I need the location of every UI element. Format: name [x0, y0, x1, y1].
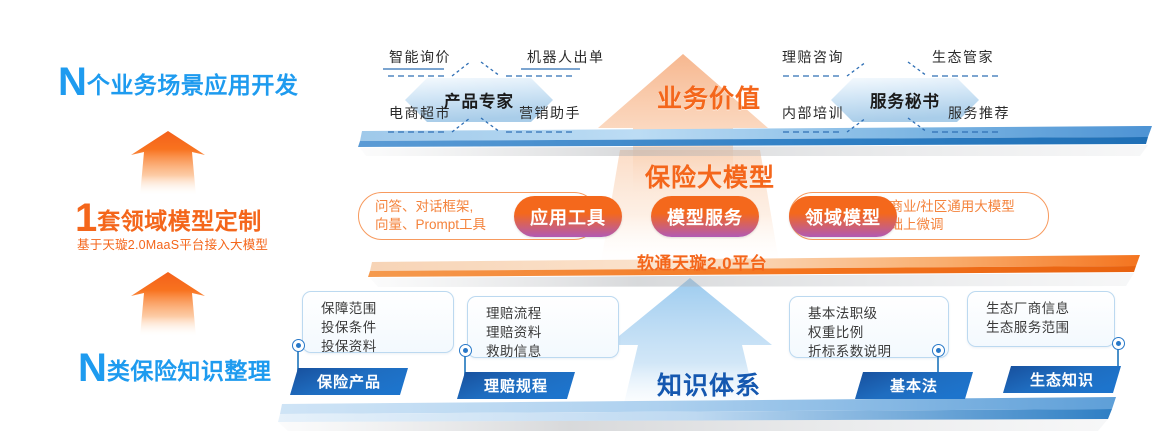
satellite-product-expert-top-left[interactable]: 智能询价 [389, 47, 451, 67]
kb-card-eco-knowledge: 生态厂商信息 生态服务范围 [967, 291, 1115, 347]
scenario-band-shadow [360, 145, 1148, 156]
left-label-domain-model: 1套领域模型定制 [75, 198, 262, 238]
kb-card-basic-law-lines: 基本法职级 权重比例 折标系数说明 [790, 297, 948, 368]
hexagon-product-expert-text: 产品专家 [444, 88, 514, 112]
satellite-service-secretary-bottom-right[interactable]: 服务推荐 [948, 103, 1010, 123]
kb-tag-basic-law[interactable]: 基本法 [855, 372, 973, 399]
platform-left-note-text: 问答、对话框架, 向量、Prompt工具 [359, 198, 486, 234]
heading-insurance-large-model: 保险大模型 [645, 158, 775, 194]
satellite-service-secretary-top-left[interactable]: 理赔咨询 [782, 47, 844, 67]
left-label-knowledge-prefix: N [78, 346, 107, 390]
kb-dot-basic-law[interactable] [932, 344, 945, 357]
left-label-domain-model-text: 套领域模型定制 [97, 208, 262, 234]
kb-card-basic-law: 基本法职级 权重比例 折标系数说明 [789, 296, 949, 358]
satellite-product-expert-bottom-left[interactable]: 电商超市 [389, 103, 451, 123]
left-label-domain-model-subtitle: 基于天璇2.0MaaS平台接入大模型 [77, 234, 268, 253]
kb-dot-claim-rules[interactable] [459, 344, 472, 357]
kb-card-claim-rules-lines: 理赔流程 理赔资料 救助信息 [468, 297, 618, 368]
pill-model-service[interactable]: 模型服务 [651, 196, 759, 237]
kb-card-insurance-product: 保障范围 投保条件 投保资料 [302, 291, 454, 353]
kb-dot-eco-knowledge[interactable] [1112, 337, 1125, 350]
kb-card-claim-rules: 理赔流程 理赔资料 救助信息 [467, 296, 619, 358]
left-label-scenarios-text: 个业务场景应用开发 [87, 72, 299, 98]
kb-tag-eco-knowledge[interactable]: 生态知识 [1003, 366, 1121, 393]
kb-tag-insurance-product[interactable]: 保险产品 [290, 368, 408, 395]
left-label-knowledge: N类保险知识整理 [78, 348, 271, 388]
kb-card-insurance-product-lines: 保障范围 投保条件 投保资料 [303, 292, 453, 363]
diagram-canvas: N个业务场景应用开发 1套领域模型定制 基于天璇2.0MaaS平台接入大模型 N… [0, 0, 1165, 432]
satellite-product-expert-top-right[interactable]: 机器人出单 [527, 47, 605, 67]
kb-tag-claim-rules-label: 理赔规程 [484, 375, 548, 396]
satellite-product-expert-bottom-right[interactable]: 营销助手 [519, 103, 581, 123]
up-arrow-icon-1 [131, 131, 205, 196]
kb-dot-insurance-product[interactable] [292, 339, 305, 352]
satellite-service-secretary-bottom-left[interactable]: 内部培训 [782, 103, 844, 123]
pill-model-service-label: 模型服务 [667, 204, 743, 230]
heading-knowledge-system: 知识体系 [657, 366, 761, 402]
kb-tag-eco-knowledge-label: 生态知识 [1030, 369, 1094, 390]
up-arrow-icon-2 [131, 272, 205, 337]
heading-platform: 软通天璇2.0平台 [637, 249, 767, 274]
pill-domain-model[interactable]: 领域模型 [789, 196, 897, 237]
pill-app-tools-label: 应用工具 [530, 204, 606, 230]
pill-app-tools[interactable]: 应用工具 [514, 196, 622, 237]
pill-domain-model-label: 领域模型 [805, 204, 881, 230]
satellite-service-secretary-top-right[interactable]: 生态管家 [932, 47, 994, 67]
left-label-scenarios-prefix: N [58, 60, 87, 104]
heading-business-value: 业务价值 [657, 79, 761, 115]
kb-tag-claim-rules[interactable]: 理赔规程 [457, 372, 575, 399]
kb-card-eco-knowledge-lines: 生态厂商信息 生态服务范围 [968, 292, 1114, 344]
left-label-scenarios: N个业务场景应用开发 [58, 62, 298, 102]
kb-tag-insurance-product-label: 保险产品 [317, 371, 381, 392]
left-label-knowledge-text: 类保险知识整理 [107, 358, 272, 384]
hexagon-service-secretary-text: 服务秘书 [870, 88, 940, 112]
kb-tag-basic-law-label: 基本法 [890, 375, 938, 396]
